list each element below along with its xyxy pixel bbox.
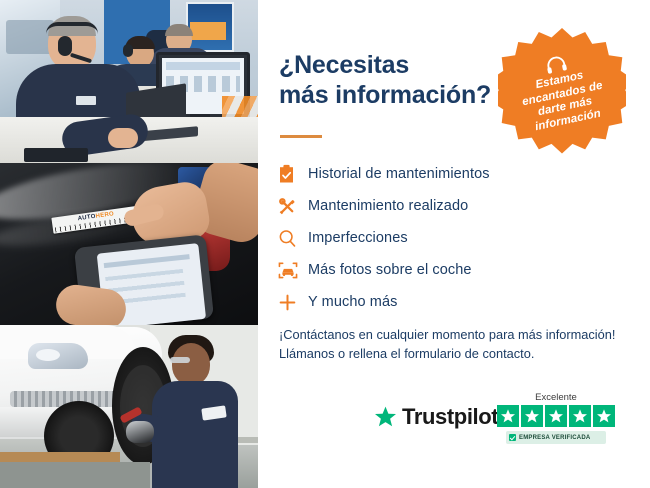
trustpilot-star xyxy=(545,405,567,427)
poster-accent-decor xyxy=(190,22,226,40)
starburst-label: Estamos encantados de darte más informac… xyxy=(507,64,620,138)
mechanic-head xyxy=(172,343,210,385)
trustpilot-star-icon xyxy=(373,405,398,429)
promo-starburst-badge: Estamos encantados de darte más informac… xyxy=(498,28,626,156)
trustpilot-star xyxy=(569,405,591,427)
inspection-ruler-photo: AUTOHERO xyxy=(0,163,258,325)
content-panel: ¿Necesitas más información? Estamos enca… xyxy=(258,0,650,488)
trustpilot-wordmark: Trustpilot xyxy=(402,404,498,430)
plus-icon xyxy=(278,291,308,313)
verified-check-icon xyxy=(509,434,516,441)
call-center-agents-photo xyxy=(0,0,258,163)
trustpilot-logo[interactable]: Trustpilot xyxy=(373,404,498,430)
page-title-line-1: ¿Necesitas xyxy=(279,50,509,80)
feature-item-mantenimiento: Mantenimiento realizado xyxy=(278,190,608,222)
desk-tablet-decor xyxy=(24,148,88,162)
lift-beam-decor xyxy=(0,452,120,462)
feature-label: Y mucho más xyxy=(308,294,397,310)
agent-front-name-badge xyxy=(76,96,96,105)
feature-label: Mantenimiento realizado xyxy=(308,198,468,214)
title-divider xyxy=(280,135,322,138)
tools-cross-icon xyxy=(278,195,308,217)
mechanic-glove xyxy=(126,421,154,443)
photo-collage: AUTOHERO xyxy=(0,0,258,488)
agent-front-hand xyxy=(108,128,138,148)
mechanic-safety-glasses xyxy=(170,357,190,363)
trustpilot-rating: Excelente xyxy=(497,392,645,444)
contact-paragraph-line-1: ¡Contáctanos en cualquier momento para m… xyxy=(279,325,631,344)
page-title: ¿Necesitas más información? xyxy=(279,50,509,110)
page-title-line-2: más información? xyxy=(279,80,509,110)
headset-icon xyxy=(544,54,569,74)
feature-item-historial: Historial de mantenimientos xyxy=(278,158,608,190)
starburst-content: Estamos encantados de darte más informac… xyxy=(486,16,638,168)
clipboard-check-icon xyxy=(278,163,308,185)
mechanic-wheel-photo xyxy=(0,325,258,488)
trustpilot-star xyxy=(497,405,519,427)
trustpilot-widget[interactable]: Trustpilot Excelente xyxy=(373,392,643,452)
agent-front-headband xyxy=(46,22,98,34)
car-lift-decor xyxy=(0,462,150,488)
feature-list: Historial de mantenimientos Mantenimient… xyxy=(278,158,608,318)
feature-label: Historial de mantenimientos xyxy=(308,166,490,182)
contact-paragraph: ¡Contáctanos en cualquier momento para m… xyxy=(279,325,631,363)
car-scan-icon xyxy=(278,259,308,281)
trustpilot-star xyxy=(593,405,615,427)
car-headlight-decor xyxy=(28,343,88,369)
info-banner: AUTOHERO xyxy=(0,0,650,488)
feature-label: Más fotos sobre el coche xyxy=(308,262,472,278)
feature-item-fotos: Más fotos sobre el coche xyxy=(278,254,608,286)
feature-item-imperfecciones: Imperfecciones xyxy=(278,222,608,254)
trustpilot-star-row xyxy=(497,405,645,427)
magnifier-icon xyxy=(278,227,308,249)
ruler-brand-auto: AUTO xyxy=(77,214,96,222)
verified-business-badge: EMPRESA VERIFICADA xyxy=(506,431,606,444)
trustpilot-rating-label: Excelente xyxy=(497,392,615,403)
contact-paragraph-line-2: Llámanos o rellena el formulario de cont… xyxy=(279,344,631,363)
verified-business-label: EMPRESA VERIFICADA xyxy=(519,435,590,441)
feature-item-mas: Y mucho más xyxy=(278,286,608,318)
agent-mid-headset xyxy=(123,44,133,57)
feature-label: Imperfecciones xyxy=(308,230,408,246)
trustpilot-star xyxy=(521,405,543,427)
